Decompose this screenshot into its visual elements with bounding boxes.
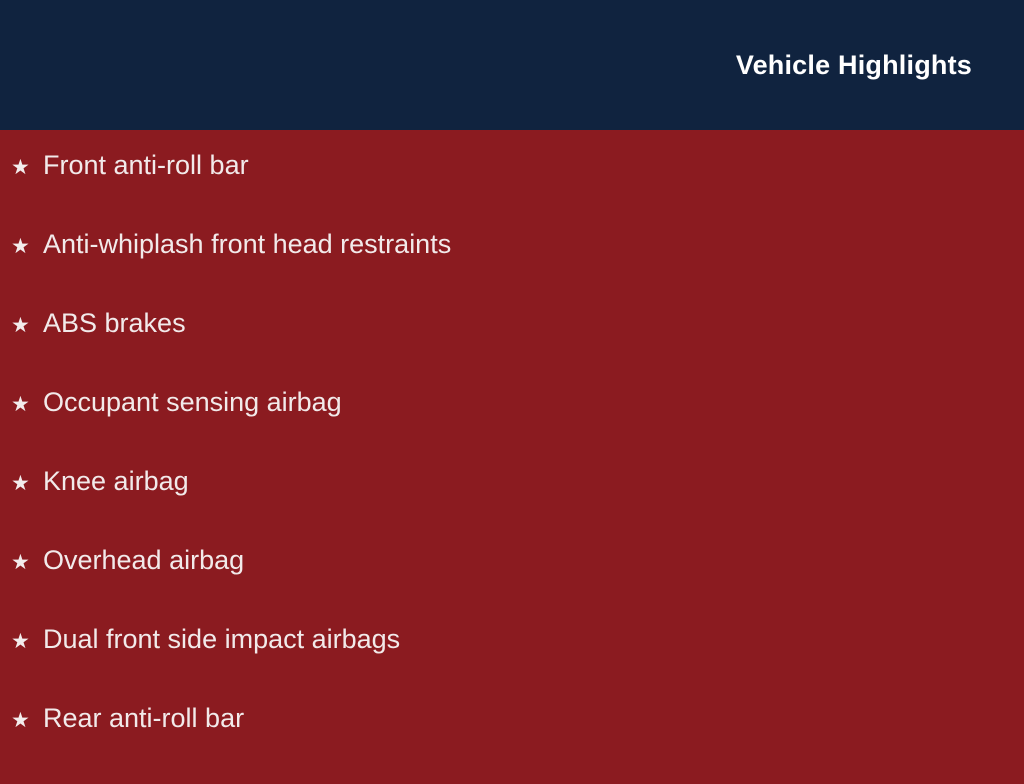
list-item: ★ Dual front side impact airbags bbox=[0, 626, 1024, 705]
list-item-label: Anti-whiplash front head restraints bbox=[43, 231, 451, 258]
list-item: ★ Knee airbag bbox=[0, 468, 1024, 547]
list-item-label: Occupant sensing airbag bbox=[43, 389, 342, 416]
list-item: ★ Rear anti-roll bar bbox=[0, 705, 1024, 784]
slide-body: ★ Front anti-roll bar ★ Anti-whiplash fr… bbox=[0, 130, 1024, 784]
vehicle-highlights-list: ★ Front anti-roll bar ★ Anti-whiplash fr… bbox=[0, 152, 1024, 784]
star-icon: ★ bbox=[11, 552, 43, 573]
vehicle-highlights-slide: Vehicle Highlights ★ Front anti-roll bar… bbox=[0, 0, 1024, 768]
star-icon: ★ bbox=[11, 473, 43, 494]
star-icon: ★ bbox=[11, 394, 43, 415]
list-item: ★ Overhead airbag bbox=[0, 547, 1024, 626]
star-icon: ★ bbox=[11, 631, 43, 652]
list-item-label: Front anti-roll bar bbox=[43, 152, 249, 179]
list-item-label: Dual front side impact airbags bbox=[43, 626, 400, 653]
list-item: ★ Occupant sensing airbag bbox=[0, 389, 1024, 468]
star-icon: ★ bbox=[11, 157, 43, 178]
list-item-label: ABS brakes bbox=[43, 310, 186, 337]
list-item-label: Rear anti-roll bar bbox=[43, 705, 244, 732]
list-item: ★ ABS brakes bbox=[0, 310, 1024, 389]
list-item-label: Knee airbag bbox=[43, 468, 189, 495]
star-icon: ★ bbox=[11, 710, 43, 731]
list-item: ★ Front anti-roll bar bbox=[0, 152, 1024, 231]
star-icon: ★ bbox=[11, 315, 43, 336]
slide-header: Vehicle Highlights bbox=[0, 0, 1024, 130]
list-item-label: Overhead airbag bbox=[43, 547, 244, 574]
page-title: Vehicle Highlights bbox=[736, 50, 972, 81]
star-icon: ★ bbox=[11, 236, 43, 257]
list-item: ★ Anti-whiplash front head restraints bbox=[0, 231, 1024, 310]
